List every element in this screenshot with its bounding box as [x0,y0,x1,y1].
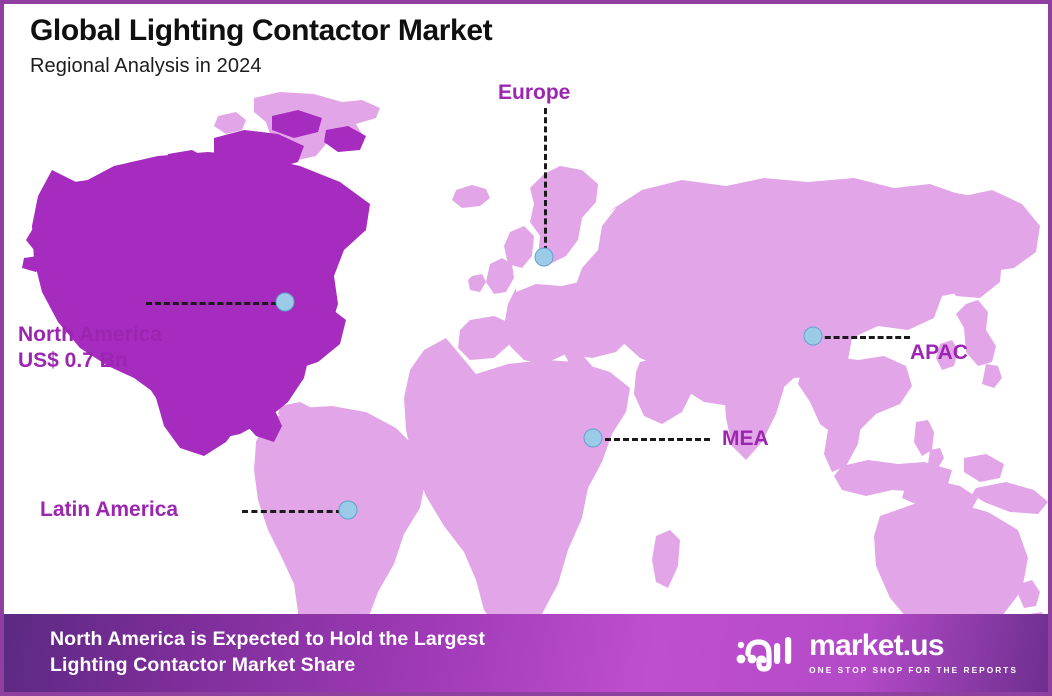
leader-line-europe [544,108,547,252]
region-label-apac: APAC [910,340,968,366]
leader-line-north-america [146,302,286,305]
page-title: Global Lighting Contactor Market [30,14,492,49]
header: Global Lighting Contactor Market Regiona… [30,14,492,78]
footer-headline: North America is Expected to Hold the La… [50,627,485,678]
region-label-north-america: North America US$ 0.7 Bn [18,322,162,373]
map-marker-latin-america[interactable] [339,501,358,520]
market-us-logo-icon [736,632,798,674]
brand-logo-text: market.us ONE STOP SHOP FOR THE REPORTS [809,631,1018,675]
region-label-europe: Europe [498,80,570,106]
region-label-latin-america: Latin America [40,497,178,523]
map-marker-apac[interactable] [804,327,823,346]
map-marker-europe[interactable] [535,248,554,267]
footer-headline-line2: Lighting Contactor Market Share [50,653,485,679]
footer-headline-line1: North America is Expected to Hold the La… [50,627,485,653]
brand-tagline: ONE STOP SHOP FOR THE REPORTS [809,665,1018,675]
region-label-mea: MEA [722,426,769,452]
map-marker-north-america[interactable] [276,293,295,312]
brand-logo[interactable]: market.us ONE STOP SHOP FOR THE REPORTS [736,631,1026,675]
leader-line-mea [596,438,710,441]
brand-name: market.us [809,631,944,661]
region-label-north-america-name: North America [18,323,162,346]
leader-line-latin-america [242,510,342,513]
footer-banner: North America is Expected to Hold the La… [4,614,1048,692]
region-value-north-america: US$ 0.7 Bn [18,348,162,374]
infographic-canvas: Global Lighting Contactor Market Regiona… [0,0,1052,696]
leader-line-apac [816,336,910,339]
map-marker-mea[interactable] [584,429,603,448]
page-subtitle: Regional Analysis in 2024 [30,55,492,78]
map-region-north-america [22,110,370,456]
